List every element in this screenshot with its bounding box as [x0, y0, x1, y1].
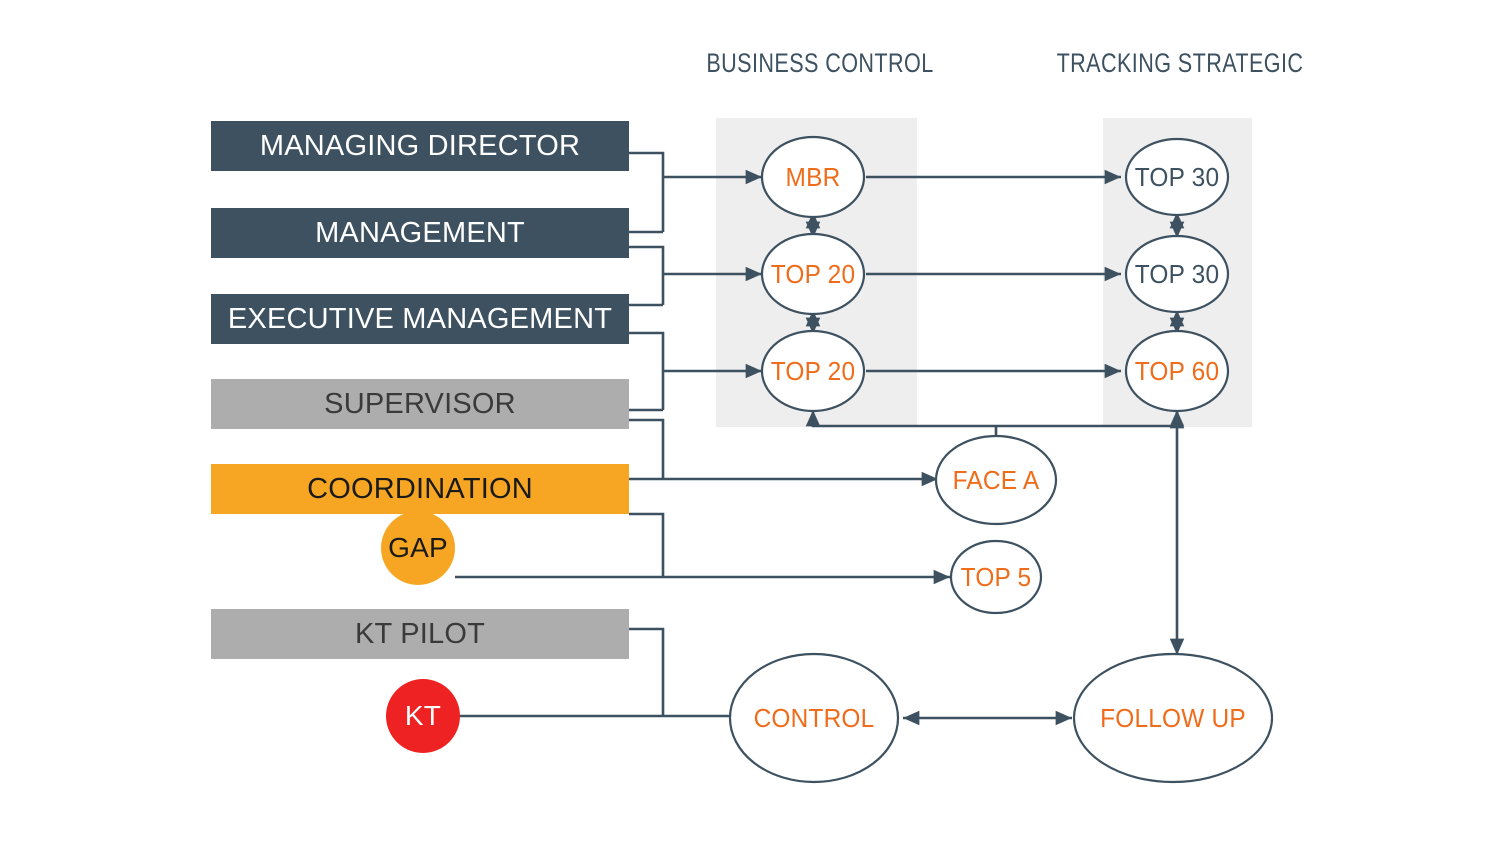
node-top20-a[interactable] — [762, 234, 864, 314]
role-bar-kt-pilot[interactable]: KT PILOT — [211, 609, 629, 659]
column-header-tracking-strategic: TRACKING STRATEGIC — [1044, 48, 1316, 79]
role-bar-executive-management[interactable]: EXECUTIVE MANAGEMENT — [211, 294, 629, 344]
node-top30-a[interactable] — [1126, 139, 1228, 215]
connector-md-to-mbr — [629, 153, 663, 232]
node-top60[interactable] — [1126, 331, 1228, 411]
chip-gap[interactable]: GAP — [381, 511, 455, 585]
node-top5[interactable] — [951, 541, 1041, 613]
node-mbr[interactable] — [762, 137, 864, 217]
diagram-canvas: BUSINESS CONTROL TRACKING STRATEGIC MANA… — [0, 0, 1504, 846]
node-follow-up[interactable] — [1074, 654, 1272, 782]
chip-kt[interactable]: KT — [386, 679, 460, 753]
connector-coordination-to-top5 — [629, 514, 663, 577]
connector-execmgmt-to-top20b — [629, 333, 663, 410]
role-bar-management[interactable]: MANAGEMENT — [211, 208, 629, 258]
connector-supervisor-to-facea — [629, 420, 663, 479]
node-face-a[interactable] — [936, 436, 1056, 524]
connector-management-to-top20a — [629, 247, 663, 305]
node-control[interactable] — [730, 654, 898, 782]
node-top30-b[interactable] — [1126, 236, 1228, 312]
role-bar-managing-director[interactable]: MANAGING DIRECTOR — [211, 121, 629, 171]
column-header-business-control: BUSINESS CONTROL — [692, 48, 948, 79]
connector-ktpilot-to-control — [629, 629, 663, 716]
role-bar-coordination[interactable]: COORDINATION — [211, 464, 629, 514]
role-bar-supervisor[interactable]: SUPERVISOR — [211, 379, 629, 429]
node-top20-b[interactable] — [762, 331, 864, 411]
